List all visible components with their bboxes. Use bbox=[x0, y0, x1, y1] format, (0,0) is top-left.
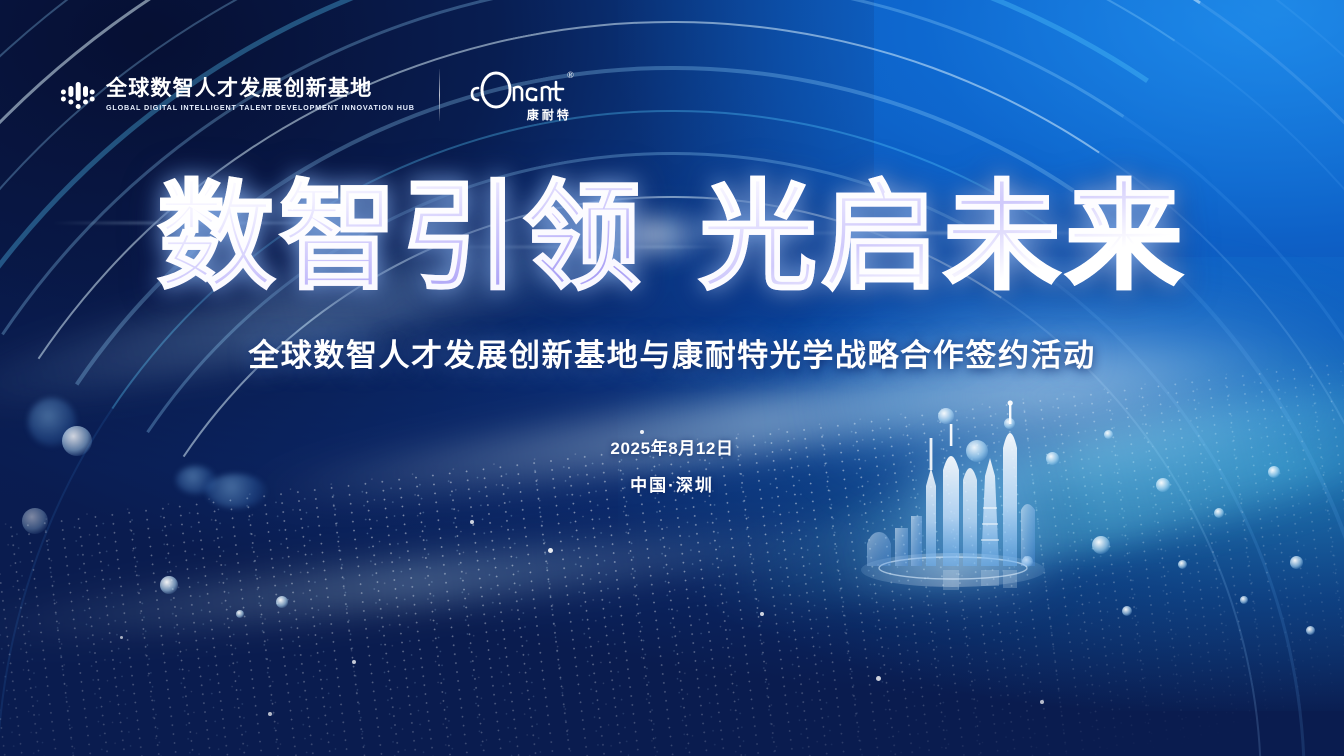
hero-subtitle: 全球数智人才发展创新基地与康耐特光学战略合作签约活动 bbox=[0, 330, 1344, 375]
partner-logo-conant: ® 康耐特 bbox=[464, 66, 576, 123]
event-meta-block: 2025年8月12日 中国·深圳 bbox=[0, 434, 1344, 496]
hub-name-en: GLOBAL DIGITAL INTELLIGENT TALENT DEVELO… bbox=[106, 104, 415, 112]
partner-name-cn: 康耐特 bbox=[527, 106, 572, 123]
svg-text:®: ® bbox=[567, 70, 574, 80]
hero-title-part1: 数智引领 bbox=[157, 168, 645, 306]
hub-logo-text: 全球数智人才发展创新基地 GLOBAL DIGITAL INTELLIGENT … bbox=[106, 77, 415, 111]
logo-divider bbox=[439, 69, 440, 121]
city-skyline-illustration bbox=[845, 398, 1060, 598]
event-date: 2025年8月12日 bbox=[0, 434, 1344, 459]
poster-canvas: 全球数智人才发展创新基地 GLOBAL DIGITAL INTELLIGENT … bbox=[0, 0, 1344, 756]
hero-title-part2: 光启未来 bbox=[699, 168, 1187, 306]
header-logo-lockup: 全球数智人才发展创新基地 GLOBAL DIGITAL INTELLIGENT … bbox=[60, 66, 576, 123]
equalizer-dots-mark-icon bbox=[60, 78, 96, 112]
hub-name-cn: 全球数智人才发展创新基地 bbox=[106, 77, 415, 101]
event-location: 中国·深圳 bbox=[0, 471, 1344, 496]
hero-title-block: 数智引领光启未来 bbox=[0, 176, 1344, 299]
hero-title: 数智引领光启未来 bbox=[157, 176, 1187, 299]
